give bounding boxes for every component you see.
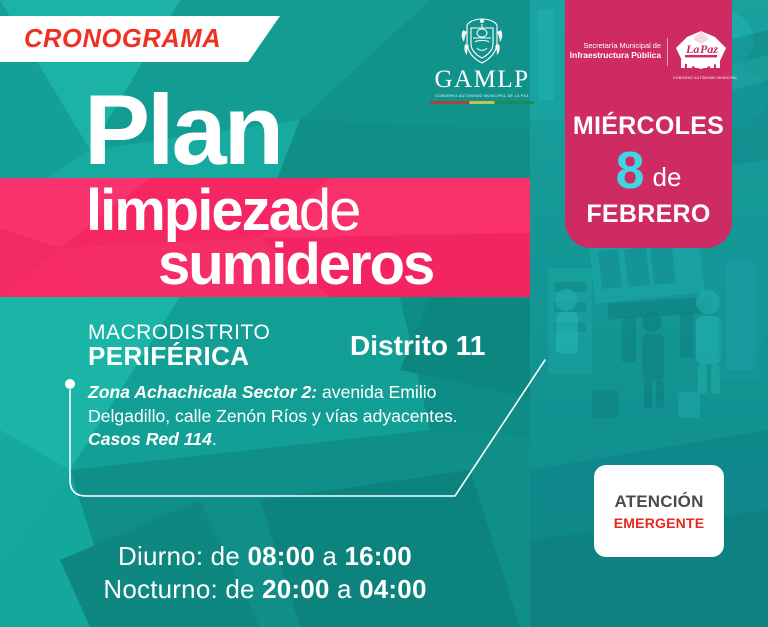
secretaria-line1: Secretaría Municipal de bbox=[569, 41, 661, 50]
date-month: FEBRERO bbox=[565, 202, 732, 227]
svg-text:La: La bbox=[685, 42, 699, 56]
date-day-row: 8de bbox=[565, 145, 732, 197]
poster-root: CRONOGRAMA GAMLP GOBIERNO AUTÓNOMO M bbox=[0, 0, 768, 627]
gamlp-flag-rule bbox=[430, 101, 534, 104]
zone-description: Zona Achachicala Sector 2: avenida Emili… bbox=[88, 381, 468, 452]
gamlp-subtitle: GOBIERNO AUTÓNOMO MUNICIPAL DE LA PAZ bbox=[424, 94, 540, 98]
cronograma-label: CRONOGRAMA bbox=[24, 25, 221, 54]
schedule-day-shift: Diurno: de 08:00 a 16:00 bbox=[0, 540, 530, 573]
schedule-night-shift: Nocturno: de 20:00 a 04:00 bbox=[0, 573, 530, 606]
lapaz-subtitle: GOBIERNO AUTÓNOMO MUNICIPAL bbox=[673, 76, 729, 80]
zone-cases-suffix: . bbox=[212, 429, 217, 449]
night-shift-end: 04:00 bbox=[359, 574, 427, 604]
title-sumideros: sumideros bbox=[158, 236, 433, 294]
date-day-number: 8 bbox=[616, 142, 645, 200]
atencion-line2: EMERGENTE bbox=[614, 515, 704, 531]
day-shift-label: Diurno: de bbox=[118, 541, 247, 571]
gamlp-wordmark: GAMLP bbox=[424, 67, 540, 92]
logo-divider bbox=[667, 38, 668, 66]
cronograma-banner: CRONOGRAMA bbox=[0, 16, 280, 62]
gamlp-logo: GAMLP GOBIERNO AUTÓNOMO MUNICIPAL DE LA … bbox=[424, 16, 540, 104]
day-shift-sep: a bbox=[315, 541, 345, 571]
date-panel: MIÉRCOLES 8de FEBRERO bbox=[565, 96, 732, 248]
day-shift-end: 16:00 bbox=[344, 541, 412, 571]
atencion-emergente-badge: ATENCIÓN EMERGENTE bbox=[594, 465, 724, 557]
day-shift-start: 08:00 bbox=[247, 541, 315, 571]
lapaz-mountain-icon: La Paz bbox=[675, 30, 727, 70]
secretaria-logo: Secretaría Municipal de Infraestructura … bbox=[569, 41, 661, 60]
zone-name: Zona Achachicala Sector 2: bbox=[88, 382, 317, 402]
schedule-block: Diurno: de 08:00 a 16:00 Nocturno: de 20… bbox=[0, 540, 530, 607]
svg-text:Paz: Paz bbox=[700, 42, 718, 56]
date-connector: de bbox=[653, 162, 682, 192]
zone-cases: Casos Red 114 bbox=[88, 429, 212, 449]
night-shift-label: Nocturno: de bbox=[103, 574, 262, 604]
secretaria-line2: Infraestructura Pública bbox=[569, 50, 661, 60]
night-shift-sep: a bbox=[330, 574, 360, 604]
date-weekday: MIÉRCOLES bbox=[565, 114, 732, 139]
coat-of-arms-icon bbox=[453, 16, 511, 66]
lapaz-logo: La Paz GOBIERNO AUTÓNOMO MUNICIPAL bbox=[673, 30, 729, 80]
night-shift-start: 20:00 bbox=[262, 574, 330, 604]
atencion-line1: ATENCIÓN bbox=[614, 492, 703, 512]
title-plan: Plan bbox=[84, 80, 281, 179]
